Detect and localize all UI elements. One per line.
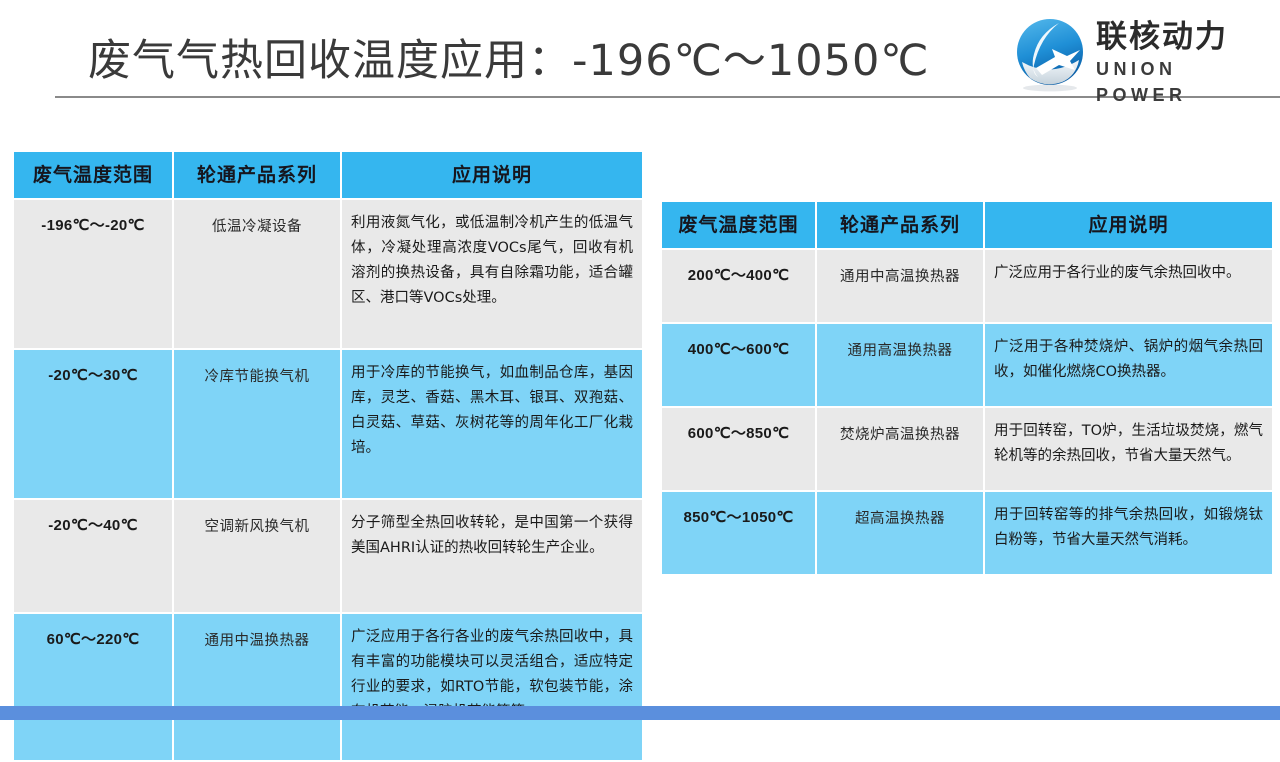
cell-range: 600℃～850℃ (662, 408, 815, 490)
page-title: 废气气热回收温度应用：-196℃～1050℃ (88, 26, 930, 88)
column-header-desc: 应用说明 (985, 202, 1272, 248)
cell-series: 低温冷凝设备 (174, 200, 340, 348)
column-header-desc: 应用说明 (342, 152, 642, 198)
cell-series: 冷库节能换气机 (174, 350, 340, 498)
logo-wordmark: 联核动力 UNION POWER (1096, 18, 1276, 108)
cell-desc: 利用液氮气化，或低温制冷机产生的低温气体，冷凝处理高浓度VOCs尾气，回收有机溶… (342, 200, 642, 348)
cell-series: 通用高温换热器 (817, 324, 983, 406)
logo-name-en: UNION POWER (1096, 56, 1276, 108)
cell-desc: 用于回转窑等的排气余热回收，如锻烧钛白粉等，节省大量天然气消耗。 (985, 492, 1272, 574)
cell-series: 超高温换热器 (817, 492, 983, 574)
cell-desc: 用于冷库的节能换气，如血制品仓库，基因库，灵芝、香菇、黑木耳、银耳、双孢菇、白灵… (342, 350, 642, 498)
cell-range: -20℃～30℃ (14, 350, 172, 498)
table-row: -20℃～30℃ 冷库节能换气机 用于冷库的节能换气，如血制品仓库，基因库，灵芝… (14, 350, 642, 498)
table-row: 200℃～400℃ 通用中高温换热器 广泛应用于各行业的废气余热回收中。 (662, 250, 1272, 322)
cell-range: 850℃～1050℃ (662, 492, 815, 574)
cell-series: 通用中高温换热器 (817, 250, 983, 322)
cell-range: 400℃～600℃ (662, 324, 815, 406)
column-header-range: 废气温度范围 (14, 152, 172, 198)
table-header-row: 废气温度范围 轮通产品系列 应用说明 (14, 152, 642, 198)
table-row: -20℃～40℃ 空调新风换气机 分子筛型全热回收转轮，是中国第一个获得美国AH… (14, 500, 642, 612)
temperature-application-table-right: 废气温度范围 轮通产品系列 应用说明 200℃～400℃ 通用中高温换热器 广泛… (660, 200, 1274, 576)
column-header-series: 轮通产品系列 (817, 202, 983, 248)
cell-range: 60℃～220℃ (14, 614, 172, 760)
cell-desc: 广泛应用于各行各业的废气余热回收中，具有丰富的功能模块可以灵活组合，适应特定行业… (342, 614, 642, 760)
cell-desc: 广泛应用于各行业的废气余热回收中。 (985, 250, 1272, 322)
table-row: 600℃～850℃ 焚烧炉高温换热器 用于回转窑，TO炉，生活垃圾焚烧，燃气轮机… (662, 408, 1272, 490)
union-power-globe-bird-icon (1012, 16, 1088, 92)
cell-series: 空调新风换气机 (174, 500, 340, 612)
company-logo: 联核动力 UNION POWER (1012, 16, 1272, 94)
column-header-range: 废气温度范围 (662, 202, 815, 248)
cell-range: -196℃～-20℃ (14, 200, 172, 348)
table-row: 400℃～600℃ 通用高温换热器 广泛用于各种焚烧炉、锅炉的烟气余热回收，如催… (662, 324, 1272, 406)
cell-series: 焚烧炉高温换热器 (817, 408, 983, 490)
temperature-application-table-left: 废气温度范围 轮通产品系列 应用说明 -196℃～-20℃ 低温冷凝设备 利用液… (12, 150, 644, 762)
table-header-row: 废气温度范围 轮通产品系列 应用说明 (662, 202, 1272, 248)
table-row: -196℃～-20℃ 低温冷凝设备 利用液氮气化，或低温制冷机产生的低温气体，冷… (14, 200, 642, 348)
logo-name-cn: 联核动力 (1096, 18, 1276, 56)
cell-desc: 用于回转窑，TO炉，生活垃圾焚烧，燃气轮机等的余热回收，节省大量天然气。 (985, 408, 1272, 490)
footer-accent-bar (0, 706, 1280, 720)
table-row: 850℃～1050℃ 超高温换热器 用于回转窑等的排气余热回收，如锻烧钛白粉等，… (662, 492, 1272, 574)
cell-range: -20℃～40℃ (14, 500, 172, 612)
cell-series: 通用中温换热器 (174, 614, 340, 760)
column-header-series: 轮通产品系列 (174, 152, 340, 198)
cell-desc: 广泛用于各种焚烧炉、锅炉的烟气余热回收，如催化燃烧CO换热器。 (985, 324, 1272, 406)
table-row: 60℃～220℃ 通用中温换热器 广泛应用于各行各业的废气余热回收中，具有丰富的… (14, 614, 642, 760)
slide-header: 废气气热回收温度应用：-196℃～1050℃ (0, 0, 1280, 100)
cell-range: 200℃～400℃ (662, 250, 815, 322)
cell-desc: 分子筛型全热回收转轮，是中国第一个获得美国AHRI认证的热收回转轮生产企业。 (342, 500, 642, 612)
